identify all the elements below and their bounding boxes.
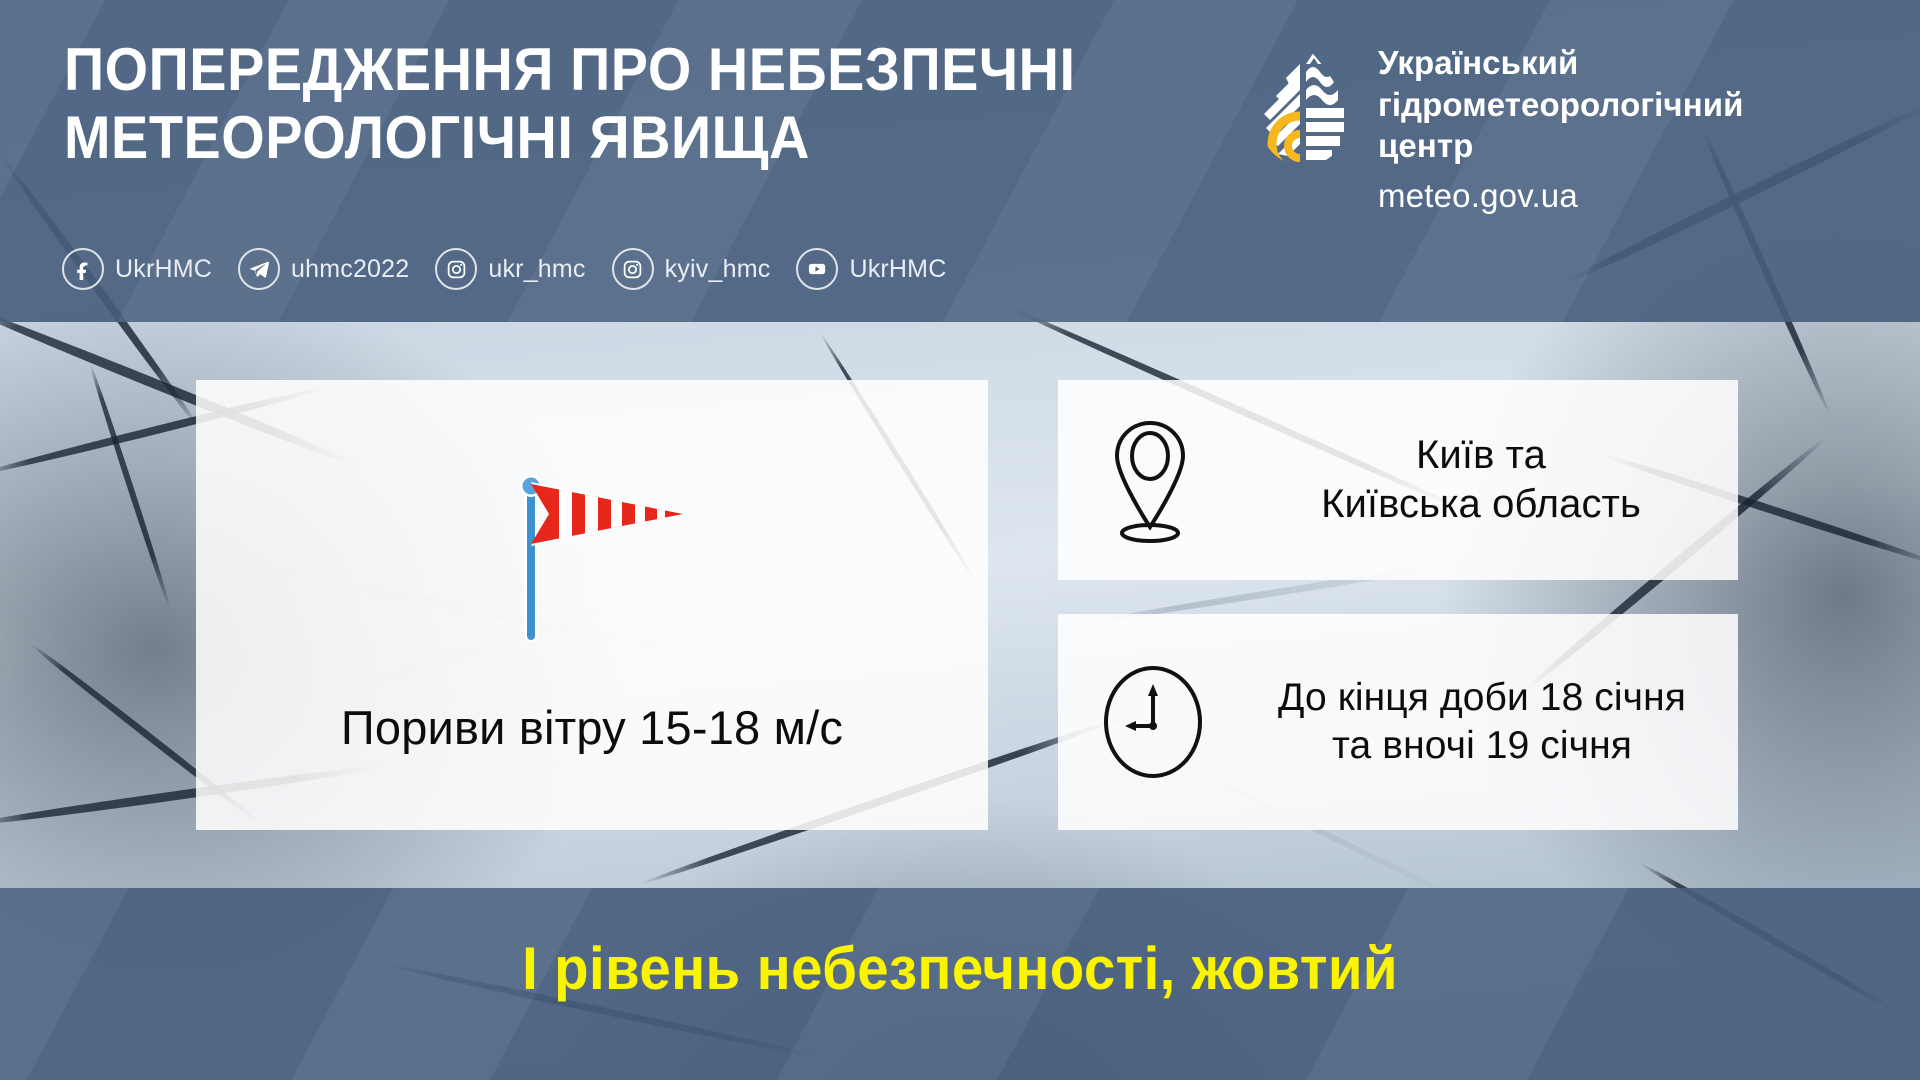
time-text: До кінця доби 18 січня та вночі 19 січня (1244, 674, 1738, 769)
weather-warning-poster: ПОПЕРЕДЖЕННЯ ПРО НЕБЕЗПЕЧНІ МЕТЕОРОЛОГІЧ… (0, 0, 1920, 1080)
hydrometeorological-droplet-logo (1256, 42, 1352, 170)
region-text: Київ та Київська область (1242, 431, 1738, 529)
main-content-area: Пориви вітру 15-18 м/с Київ та Київська … (0, 322, 1920, 888)
social-label: UkrHMC (115, 255, 212, 284)
social-label: kyiv_hmc (665, 255, 771, 284)
social-link-telegram[interactable]: uhmc2022 (238, 248, 409, 290)
clock-icon (1098, 660, 1208, 784)
wind-caption: Пориви вітру 15-18 м/с (341, 700, 843, 755)
youtube-icon (796, 248, 838, 290)
website-url[interactable]: meteo.gov.ua (1378, 177, 1744, 215)
footer-band: І рівень небезпечності, жовтий (0, 888, 1920, 1080)
social-label: ukr_hmc (488, 255, 585, 284)
brand-block: Український гідрометеорологічний центр m… (1256, 42, 1744, 215)
page-title: ПОПЕРЕДЖЕННЯ ПРО НЕБЕЗПЕЧНІ МЕТЕОРОЛОГІЧ… (64, 36, 1171, 173)
social-link-youtube[interactable]: UkrHMC (796, 248, 946, 290)
instagram-icon (435, 248, 477, 290)
telegram-icon (238, 248, 280, 290)
instagram-icon (612, 248, 654, 290)
danger-level-text: І рівень небезпечності, жовтий (58, 934, 1863, 1003)
header-band: ПОПЕРЕДЖЕННЯ ПРО НЕБЕЗПЕЧНІ МЕТЕОРОЛОГІЧ… (0, 0, 1920, 322)
wind-warning-card: Пориви вітру 15-18 м/с (196, 380, 988, 830)
organization-name: Український гідрометеорологічний центр (1378, 42, 1744, 167)
social-link-instagram-ukr[interactable]: ukr_hmc (435, 248, 585, 290)
social-label: uhmc2022 (291, 255, 409, 284)
social-link-instagram-kyiv[interactable]: kyiv_hmc (612, 248, 771, 290)
social-link-facebook[interactable]: UkrHMC (62, 248, 212, 290)
wind-pennant-icon (487, 456, 697, 656)
map-pin-icon (1102, 415, 1198, 545)
facebook-icon (62, 248, 104, 290)
region-card: Київ та Київська область (1058, 380, 1738, 580)
social-links-row: UkrHMC uhmc2022 (62, 248, 946, 290)
social-label: UkrHMC (849, 255, 946, 284)
time-card: До кінця доби 18 січня та вночі 19 січня (1058, 614, 1738, 830)
